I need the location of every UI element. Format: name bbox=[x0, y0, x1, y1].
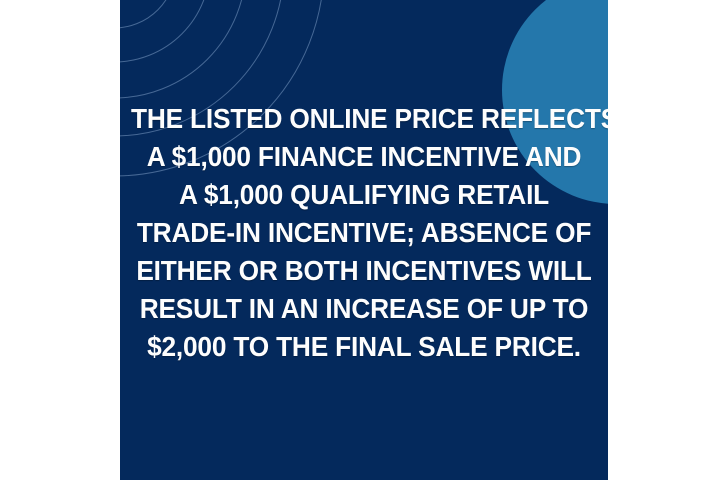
headline-line-7: $2,000 TO THE FINAL SALE PRICE. bbox=[131, 328, 597, 366]
disclaimer-headline: THE LISTED ONLINE PRICE REFLECTS A $1,00… bbox=[131, 100, 597, 366]
headline-line-2: A $1,000 FINANCE INCENTIVE AND bbox=[131, 138, 597, 176]
disclaimer-panel: THE LISTED ONLINE PRICE REFLECTS A $1,00… bbox=[120, 0, 608, 480]
headline-line-3: A $1,000 QUALIFYING RETAIL bbox=[131, 176, 597, 214]
headline-line-4: TRADE-IN INCENTIVE; ABSENCE OF bbox=[131, 214, 597, 252]
headline-line-6: RESULT IN AN INCREASE OF UP TO bbox=[131, 290, 597, 328]
headline-line-5: EITHER OR BOTH INCENTIVES WILL bbox=[131, 252, 597, 290]
headline-line-1: THE LISTED ONLINE PRICE REFLECTS bbox=[131, 100, 597, 138]
banner-canvas: THE LISTED ONLINE PRICE REFLECTS A $1,00… bbox=[0, 0, 720, 480]
